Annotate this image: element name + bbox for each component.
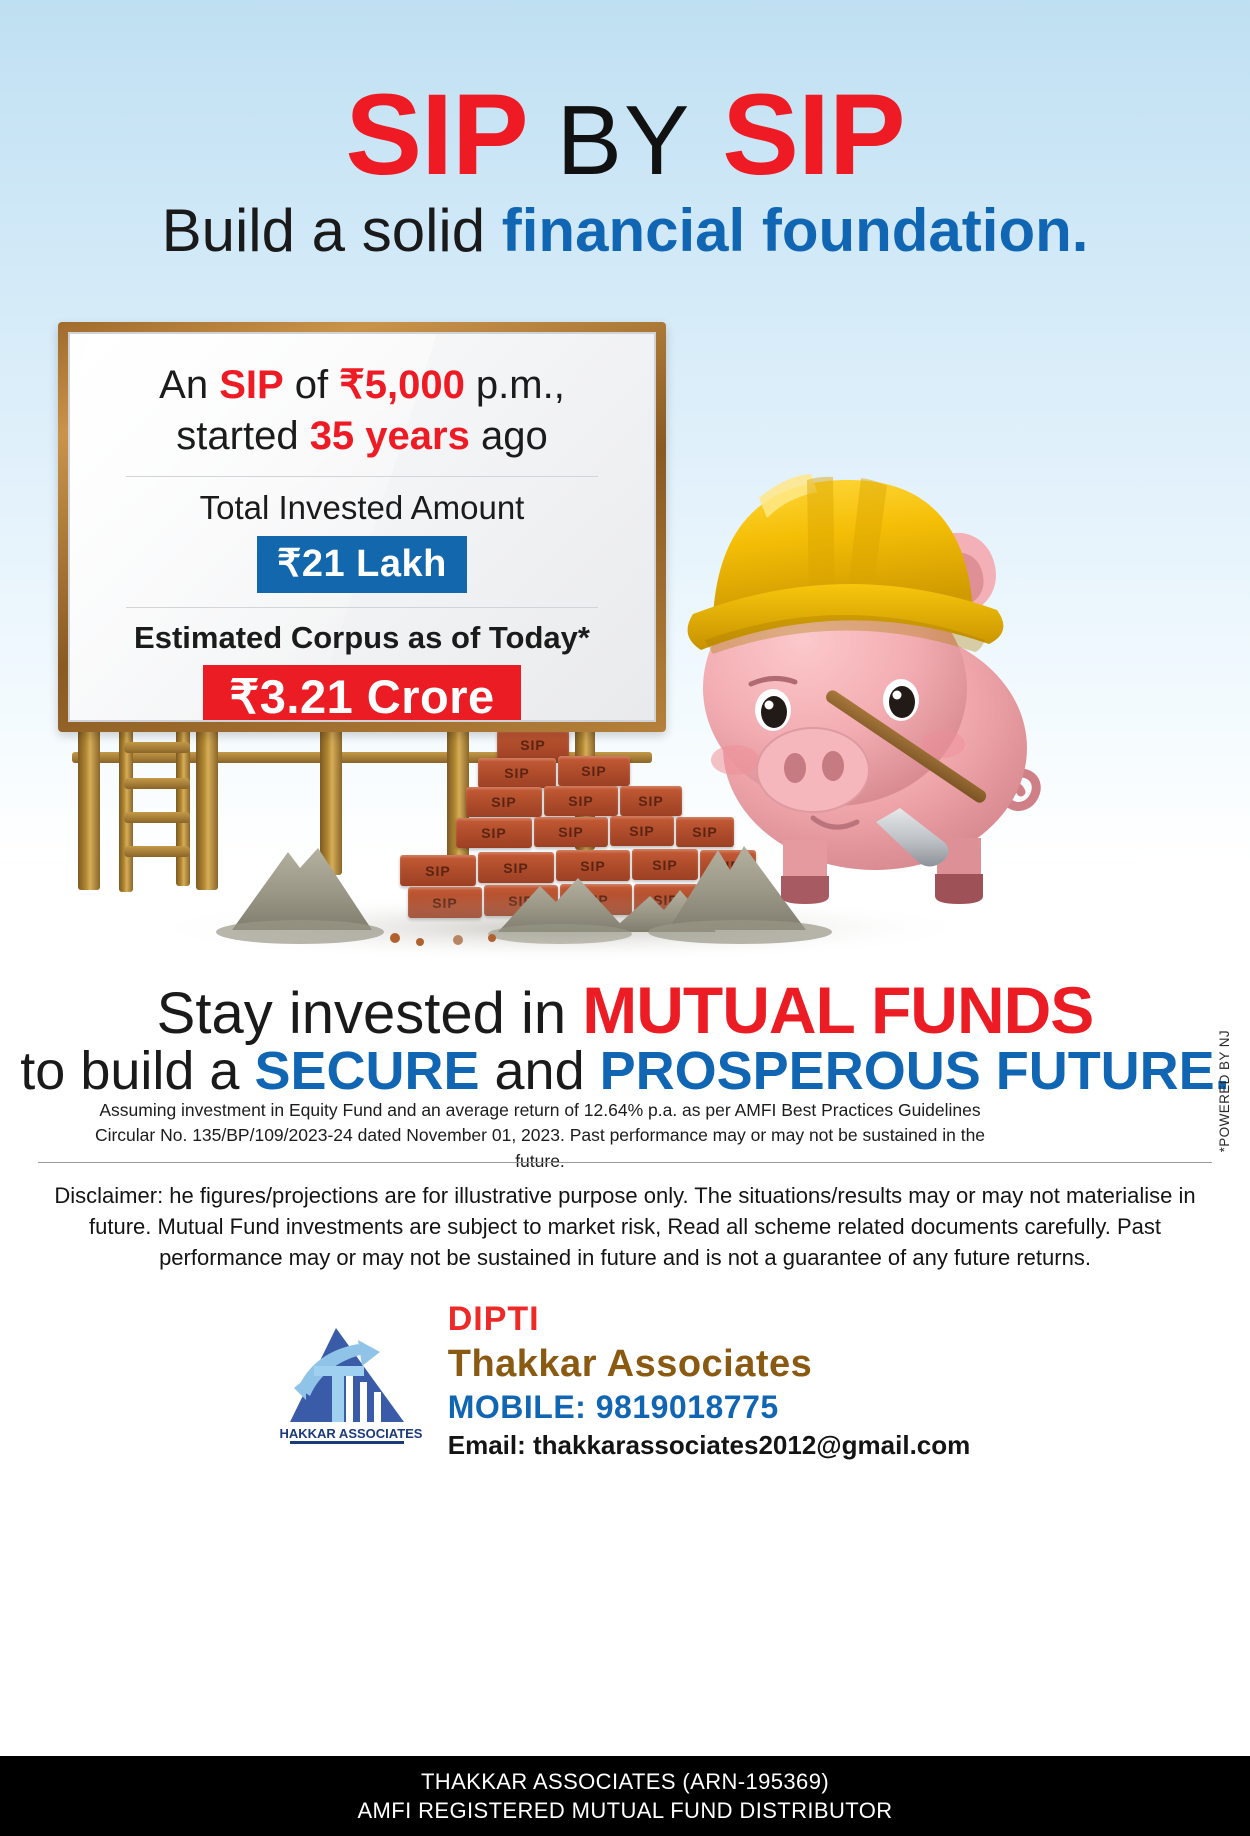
tagline-line-2: to build a SECURE and PROSPEROUS FUTURE. <box>0 1040 1250 1102</box>
ladder-rung-2 <box>124 778 190 789</box>
tagline-line-1: Stay invested in MUTUAL FUNDS <box>0 972 1250 1048</box>
title-by: BY <box>557 85 692 195</box>
sip-amount-line: An SIP of ₹5,000 p.m., <box>92 360 632 410</box>
ladder-rung-1 <box>124 742 190 753</box>
divider-1 <box>126 476 598 477</box>
firm-name: Thakkar Associates <box>448 1343 971 1386</box>
disclaimer-text: Disclaimer: he figures/projections are f… <box>40 1180 1210 1274</box>
tagline2-plain-1: to build a <box>20 1041 254 1101</box>
duration-prefix: started <box>176 414 309 458</box>
page-title: SIP BY SIP <box>0 78 1250 193</box>
subtitle-plain: Build a solid <box>162 197 502 264</box>
sip-amount-value: ₹5,000 <box>339 363 465 407</box>
duration-suffix: ago <box>470 414 548 458</box>
duration-value: 35 years <box>310 414 470 458</box>
email-address[interactable]: Email: thakkarassociates2012@gmail.com <box>448 1431 971 1460</box>
tagline1-plain: Stay invested in <box>157 981 583 1046</box>
tagline2-plain-2: and <box>480 1041 600 1101</box>
title-sip-1: SIP <box>345 71 525 199</box>
logo-caption: THAKKAR ASSOCIATES <box>280 1426 422 1441</box>
tagline2-secure: SECURE <box>254 1041 479 1101</box>
sip-line-prefix: An <box>159 363 219 407</box>
billboard-panel: An SIP of ₹5,000 p.m., started 35 years … <box>58 322 666 732</box>
tagline2-prosperous: PROSPEROUS FUTURE. <box>600 1041 1230 1101</box>
corpus-value-badge: ₹3.21 Crore <box>203 665 520 722</box>
contact-block: THAKKAR ASSOCIATES DIPTI Thakkar Associa… <box>0 1300 1250 1461</box>
subtitle-highlight: financial foundation. <box>502 197 1089 264</box>
footer-bar: THAKKAR ASSOCIATES (ARN-195369) AMFI REG… <box>0 1756 1250 1836</box>
billboard-frame: An SIP of ₹5,000 p.m., started 35 years … <box>58 322 666 732</box>
mobile-number[interactable]: MOBILE: 9819018775 <box>448 1390 971 1426</box>
page-subtitle: Build a solid financial foundation. <box>0 196 1250 265</box>
section-divider <box>38 1162 1212 1163</box>
sip-duration-line: started 35 years ago <box>92 410 632 462</box>
sip-line-suffix: p.m., <box>465 363 565 407</box>
footer-distributor: AMFI REGISTERED MUTUAL FUND DISTRIBUTOR <box>357 1798 892 1824</box>
sip-keyword: SIP <box>219 363 283 407</box>
tagline1-highlight: MUTUAL FUNDS <box>582 973 1093 1047</box>
corpus-label: Estimated Corpus as of Today* <box>92 620 632 656</box>
title-sip-2: SIP <box>722 71 904 199</box>
billboard-board: An SIP of ₹5,000 p.m., started 35 years … <box>68 332 656 722</box>
divider-2 <box>126 607 598 608</box>
sip-line-mid: of <box>284 363 340 407</box>
advisor-name: DIPTI <box>448 1300 971 1338</box>
invested-amount-badge: ₹21 Lakh <box>257 536 467 593</box>
powered-by-label: *POWERED BY NJ <box>1217 1030 1232 1152</box>
invested-amount-label: Total Invested Amount <box>92 489 632 527</box>
thakkar-associates-logo: THAKKAR ASSOCIATES <box>280 1314 422 1446</box>
poster-canvas: SIP BY SIP Build a solid financial found… <box>0 0 1250 1836</box>
footer-arn: THAKKAR ASSOCIATES (ARN-195369) <box>421 1769 829 1795</box>
